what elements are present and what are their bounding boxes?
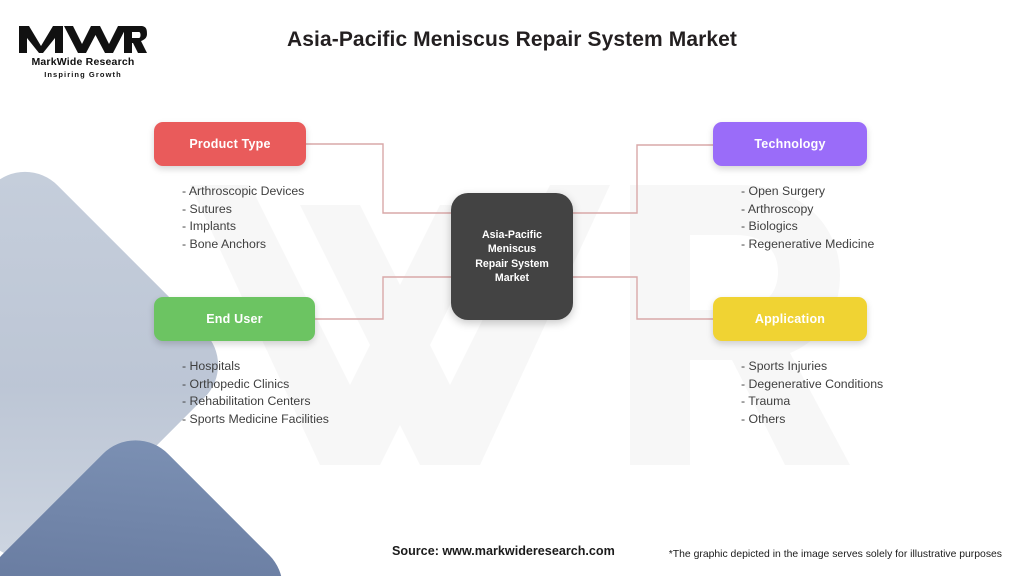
- center-node-line-3: Market: [495, 272, 529, 284]
- center-node-line-2: Repair System: [475, 258, 549, 270]
- brand-name: MarkWide Research: [18, 56, 148, 68]
- node-application-title: Application: [755, 312, 825, 326]
- connector-product-type: [306, 144, 451, 213]
- list-item: - Sutures: [182, 201, 306, 219]
- list-item: - Degenerative Conditions: [741, 376, 883, 394]
- center-node: Asia-Pacific Meniscus Repair System Mark…: [451, 193, 573, 320]
- node-end-user-header[interactable]: End User: [154, 297, 315, 341]
- list-item: - Arthroscopy: [741, 201, 874, 219]
- node-application-list: - Sports Injuries - Degenerative Conditi…: [741, 358, 883, 428]
- node-product-type-header[interactable]: Product Type: [154, 122, 306, 166]
- list-item: - Rehabilitation Centers: [182, 393, 329, 411]
- node-technology-list: - Open Surgery - Arthroscopy - Biologics…: [741, 183, 874, 253]
- list-item: - Sports Medicine Facilities: [182, 411, 329, 429]
- node-product-type-title: Product Type: [189, 137, 270, 151]
- source-text: Source: www.markwideresearch.com: [392, 544, 615, 558]
- node-end-user-list: - Hospitals - Orthopedic Clinics - Rehab…: [182, 358, 329, 428]
- list-item: - Open Surgery: [741, 183, 874, 201]
- center-node-label: Asia-Pacific Meniscus Repair System Mark…: [451, 228, 573, 286]
- brand-tagline: Inspiring Growth: [18, 70, 148, 79]
- list-item: - Trauma: [741, 393, 883, 411]
- node-application-header[interactable]: Application: [713, 297, 867, 341]
- list-item: - Biologics: [741, 218, 874, 236]
- node-product-type-list: - Arthroscopic Devices - Sutures - Impla…: [182, 183, 306, 253]
- node-technology-header[interactable]: Technology: [713, 122, 867, 166]
- list-item: - Orthopedic Clinics: [182, 376, 329, 394]
- connector-application: [573, 277, 713, 319]
- list-item: - Hospitals: [182, 358, 329, 376]
- center-node-line-1: Asia-Pacific Meniscus: [482, 229, 542, 256]
- list-item: - Regenerative Medicine: [741, 236, 874, 254]
- node-technology-title: Technology: [754, 137, 825, 151]
- node-end-user: End User - Hospitals - Orthopedic Clinic…: [154, 297, 329, 428]
- disclaimer-text: *The graphic depicted in the image serve…: [669, 549, 1002, 560]
- list-item: - Others: [741, 411, 883, 429]
- list-item: - Implants: [182, 218, 306, 236]
- list-item: - Sports Injuries: [741, 358, 883, 376]
- list-item: - Arthroscopic Devices: [182, 183, 306, 201]
- list-item: - Bone Anchors: [182, 236, 306, 254]
- node-end-user-title: End User: [206, 312, 262, 326]
- node-application: Application - Sports Injuries - Degenera…: [713, 297, 883, 428]
- node-technology: Technology - Open Surgery - Arthroscopy …: [713, 122, 874, 253]
- page-title: Asia-Pacific Meniscus Repair System Mark…: [0, 28, 1024, 52]
- connector-end-user: [315, 277, 451, 319]
- node-product-type: Product Type - Arthroscopic Devices - Su…: [154, 122, 306, 253]
- connector-technology: [573, 145, 713, 213]
